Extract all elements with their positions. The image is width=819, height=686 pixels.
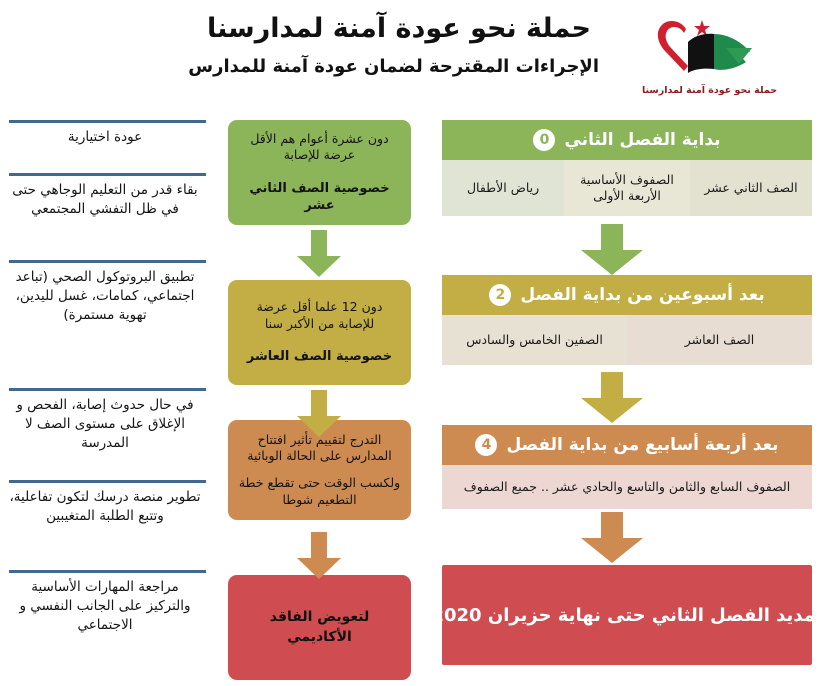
grade-group-cell: الصفوف السابع والثامن والتاسع والحادي عش… [442,465,812,509]
grade-group-cell: رياض الأطفال [442,160,564,216]
phase-block: بداية الفصل الثاني0الصف الثاني عشرالصفوف… [442,120,812,216]
measures-list: عودة اختياريةبقاء قدر من التعليم الوجاهي… [0,120,212,686]
flow-arrow-down-icon [295,230,343,282]
grade-group-cell: الصف الثاني عشر [690,160,812,216]
phase-header: بعد أربعة أسابيع من بداية الفصل4 [442,425,812,465]
measure-divider [9,388,206,391]
measure-item: مراجعة المهارات الأساسية والتركيز على ال… [4,570,206,635]
phase-label: بعد أسبوعين من بداية الفصل [520,285,764,305]
measure-text: عودة اختيارية [4,128,206,147]
rationale-line: دون 12 علما أقل عرضة للإصابة من الأكبر س… [237,299,402,332]
measure-divider [9,570,206,573]
measure-item: تطبيق البروتوكول الصحي (تباعد اجتماعي، ك… [4,260,206,325]
phase-label: بعد أربعة أسابيع من بداية الفصل [506,435,778,455]
measure-text: تطبيق البروتوكول الصحي (تباعد اجتماعي، ك… [4,268,206,325]
page-title: حملة نحو عودة آمنة لمدارسنا [199,12,599,46]
phase-number-badge: 4 [475,434,497,456]
phase-group-row: الصف الثاني عشرالصفوف الأساسية الأربعة ا… [442,160,812,216]
rationale-column: دون عشرة أعوام هم الأقل عرضة للإصابةخصوص… [228,120,411,686]
phase-block: بعد أربعة أسابيع من بداية الفصل4الصفوف ا… [442,425,812,509]
measure-text: في حال حدوث إصابة، الفحص و الإغلاق على م… [4,396,206,453]
phase-group-row: الصف العاشرالصفين الخامس والسادس [442,315,812,365]
rationale-line: لتعويض الفاقد الأكاديمي [237,608,402,647]
flow-arrow-down-icon [295,390,343,442]
measure-divider [9,260,206,263]
heart-book-flag-logo-icon [622,12,797,84]
measure-divider [9,480,206,483]
flow-arrow-down-icon [295,532,343,584]
grade-group-cell: الصفوف الأساسية الأربعة الأولى [564,160,690,216]
rationale-box: لتعويض الفاقد الأكاديمي [228,575,411,680]
grade-group-cell: الصفين الخامس والسادس [442,315,627,365]
measure-text: مراجعة المهارات الأساسية والتركيز على ال… [4,578,206,635]
page-header: حملة نحو عودة آمنة لمدارسنا الإجراءات ال… [0,0,819,116]
rationale-line: دون عشرة أعوام هم الأقل عرضة للإصابة [237,131,402,164]
phases-column: بداية الفصل الثاني0الصف الثاني عشرالصفوف… [442,120,812,686]
measure-item: تطوير منصة درسك لتكون تفاعلية، وتتبع الط… [4,480,206,526]
rationale-box: دون عشرة أعوام هم الأقل عرضة للإصابةخصوص… [228,120,411,225]
final-banner-text: تمديد الفصل الثاني حتى نهاية حزيران 2020 [431,605,819,626]
logo-caption: حملة نحو عودة آمنة لمدارسنا [622,85,797,96]
phase-arrow-down-icon [579,372,645,428]
phase-label: بداية الفصل الثاني [564,130,720,150]
grade-group-cell: الصف العاشر [627,315,812,365]
phase-number-badge: 0 [533,129,555,151]
rationale-line: خصوصية الصف الثاني عشر [237,180,402,215]
final-banner: تمديد الفصل الثاني حتى نهاية حزيران 2020 [442,565,812,665]
phase-arrow-down-icon [579,512,645,568]
rationale-line: ولكسب الوقت حتى تقطع خطة التطعيم شوطا [237,475,402,508]
measure-item: بقاء قدر من التعليم الوجاهي حتى في ظل ال… [4,173,206,219]
measure-item: في حال حدوث إصابة، الفحص و الإغلاق على م… [4,388,206,453]
phase-arrow-down-icon [579,224,645,280]
measure-text: بقاء قدر من التعليم الوجاهي حتى في ظل ال… [4,181,206,219]
rationale-box: دون 12 علما أقل عرضة للإصابة من الأكبر س… [228,280,411,385]
page-subtitle: الإجراءات المقترحة لضمان عودة آمنة للمدا… [199,56,599,77]
measure-divider [9,120,206,123]
phase-number-badge: 2 [489,284,511,306]
rationale-line: خصوصية الصف العاشر [247,348,392,365]
measure-divider [9,173,206,176]
phase-group-row: الصفوف السابع والثامن والتاسع والحادي عش… [442,465,812,509]
phase-block: بعد أسبوعين من بداية الفصل2الصف العاشرال… [442,275,812,365]
measure-text: تطوير منصة درسك لتكون تفاعلية، وتتبع الط… [4,488,206,526]
phase-header: بعد أسبوعين من بداية الفصل2 [442,275,812,315]
campaign-logo: حملة نحو عودة آمنة لمدارسنا [622,12,797,110]
measure-item: عودة اختيارية [4,120,206,147]
title-block: حملة نحو عودة آمنة لمدارسنا الإجراءات ال… [199,12,599,77]
phase-header: بداية الفصل الثاني0 [442,120,812,160]
